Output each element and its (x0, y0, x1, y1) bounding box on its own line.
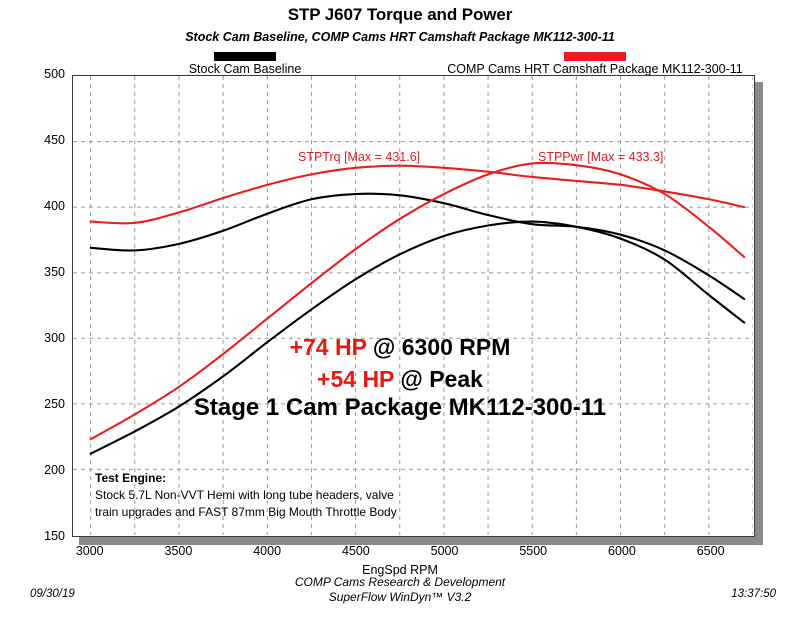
test-engine-note-line-2: train upgrades and FAST 87mm Big Mouth T… (95, 504, 495, 521)
y-tick-350: 350 (25, 266, 65, 278)
page-subtitle: Stock Cam Baseline, COMP Cams HRT Camsha… (0, 30, 800, 44)
footer-software: SuperFlow WinDyn™ V3.2 (0, 590, 800, 605)
footer-center: COMP Cams Research & Development SuperFl… (0, 575, 800, 605)
x-tick-6500: 6500 (681, 544, 741, 558)
torque-max-annotation: STPTrq [Max = 431.6] (298, 150, 420, 164)
y-tick-500: 500 (25, 68, 65, 80)
x-tick-5000: 5000 (415, 544, 475, 558)
test-engine-note-title: Test Engine: (95, 470, 495, 487)
callout-hp-gain-rpm: +74 HP (290, 334, 367, 360)
y-tick-200: 200 (25, 464, 65, 476)
legend-swatch-comp-cams (564, 52, 626, 61)
x-tick-4500: 4500 (326, 544, 386, 558)
dyno-chart: STP J607 Torque and Power Stock Cam Base… (0, 0, 800, 618)
x-tick-6000: 6000 (592, 544, 652, 558)
legend-label-comp-cams: COMP Cams HRT Camshaft Package MK112-300… (400, 62, 790, 76)
callout-line-1: +74 HP @ 6300 RPM (0, 334, 800, 361)
test-engine-note-line-1: Stock 5.7L Non-VVT Hemi with long tube h… (95, 487, 495, 504)
legend-entry-baseline: Stock Cam Baseline (120, 52, 370, 76)
x-tick-3500: 3500 (148, 544, 208, 558)
power-max-annotation: STPPwr [Max = 433.3] (538, 150, 663, 164)
test-engine-note: Test Engine: Stock 5.7L Non-VVT Hemi wit… (95, 470, 495, 521)
legend-label-baseline: Stock Cam Baseline (120, 62, 370, 76)
callout-hp-gain-peak: +54 HP (317, 366, 394, 392)
y-tick-150: 150 (25, 530, 65, 542)
chart-legend: Stock Cam Baseline COMP Cams HRT Camshaf… (0, 52, 800, 76)
callout-at-rpm: @ 6300 RPM (373, 334, 510, 360)
legend-entry-comp-cams: COMP Cams HRT Camshaft Package MK112-300… (400, 52, 790, 76)
y-tick-400: 400 (25, 200, 65, 212)
footer-org: COMP Cams Research & Development (0, 575, 800, 590)
footer-time: 13:37:50 (731, 588, 776, 600)
plot-svg (73, 76, 753, 535)
callout-at-peak: @ Peak (400, 366, 483, 392)
legend-swatch-baseline (214, 52, 276, 61)
x-tick-5500: 5500 (503, 544, 563, 558)
x-tick-3000: 3000 (60, 544, 120, 558)
plot-area (72, 75, 755, 537)
page-title: STP J607 Torque and Power (0, 5, 800, 25)
x-tick-4000: 4000 (237, 544, 297, 558)
y-tick-450: 450 (25, 134, 65, 146)
callout-package-name: Stage 1 Cam Package MK112-300-11 (0, 394, 800, 422)
callout-line-2: +54 HP @ Peak (0, 366, 800, 393)
